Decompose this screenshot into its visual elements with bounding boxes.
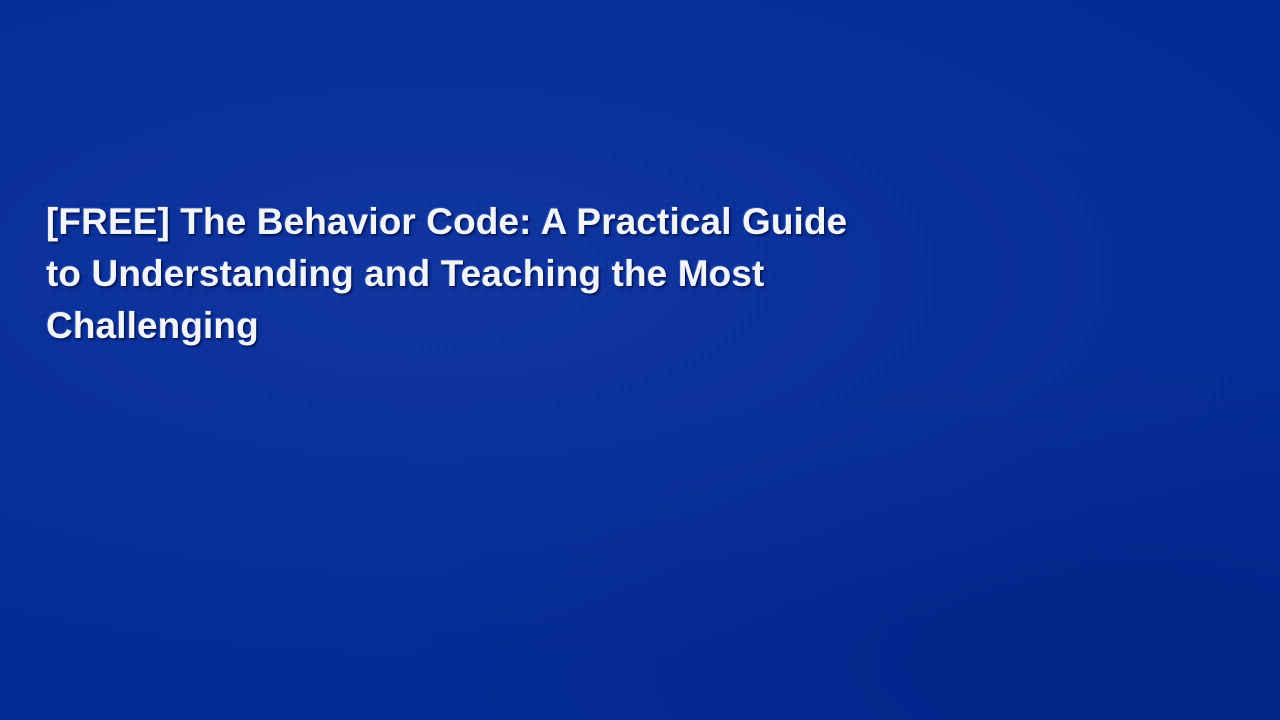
title-block: [FREE] The Behavior Code: A Practical Gu…: [46, 196, 1116, 352]
title-line-3: Challenging: [46, 300, 1116, 352]
title-line-1: [FREE] The Behavior Code: A Practical Gu…: [46, 196, 1116, 248]
thumbnail-canvas: [FREE] The Behavior Code: A Practical Gu…: [0, 0, 1280, 720]
title-line-2: to Understanding and Teaching the Most: [46, 248, 1116, 300]
